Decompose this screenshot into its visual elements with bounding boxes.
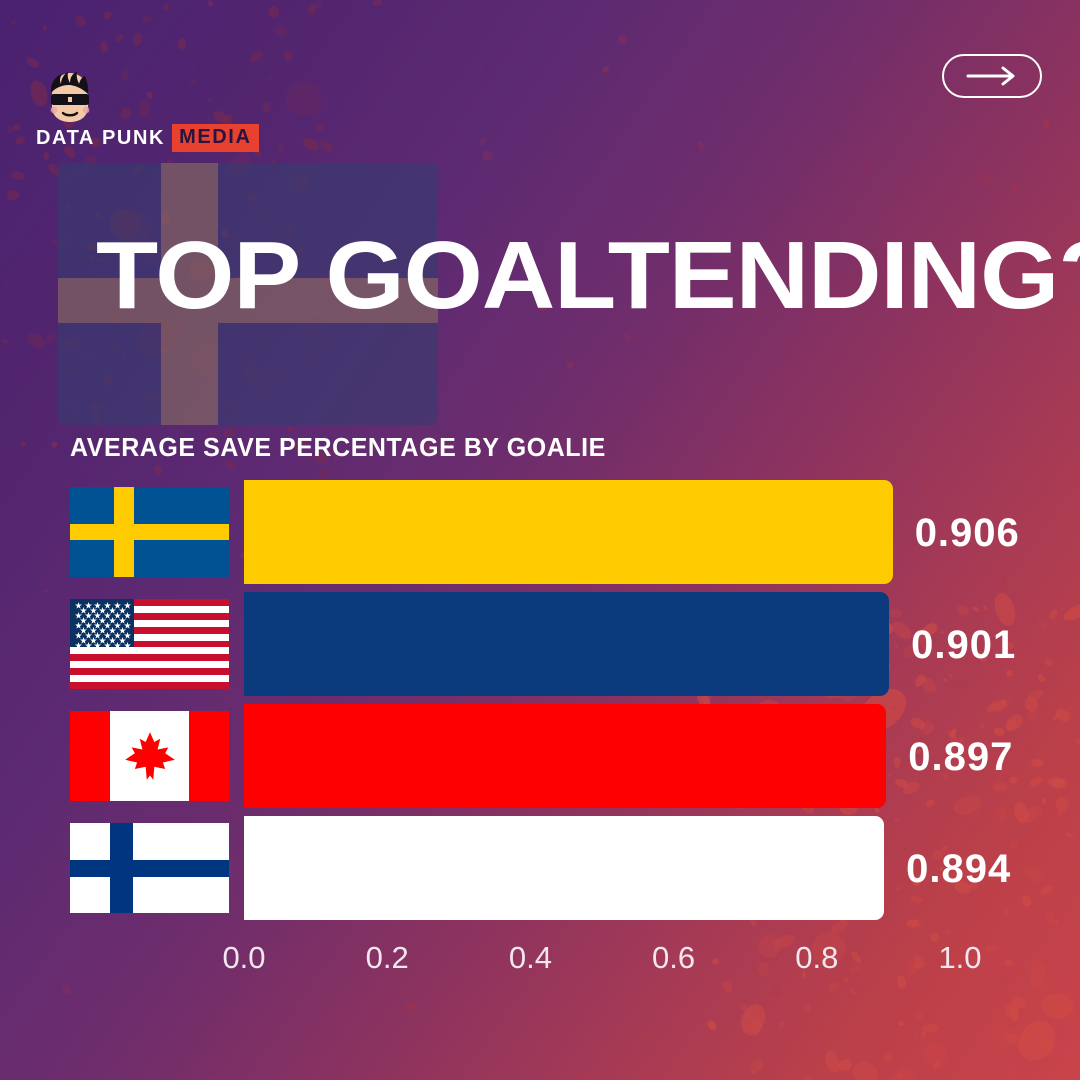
infographic-canvas: DATA PUNK MEDIA TOP GOALTENDING? AVERAGE… bbox=[0, 0, 1080, 1080]
bar-value-label: 0.894 bbox=[906, 847, 1011, 892]
bar-canada bbox=[244, 704, 886, 808]
bar-row: 0.897 bbox=[0, 704, 1080, 808]
brand-word-punk: PUNK bbox=[102, 127, 165, 150]
bar-value-label: 0.897 bbox=[908, 735, 1013, 780]
x-tick-label: 0.4 bbox=[509, 940, 552, 976]
finland-flag-icon bbox=[70, 823, 229, 913]
brand-word-data: DATA bbox=[36, 127, 95, 150]
arrow-right-icon bbox=[964, 66, 1020, 86]
bar-sweden bbox=[244, 480, 893, 584]
brand-logo: DATA PUNK MEDIA bbox=[36, 72, 286, 152]
page-title: TOP GOALTENDING? bbox=[96, 232, 1080, 320]
x-axis: 0.00.20.40.60.81.0 bbox=[0, 932, 1080, 992]
chart-subtitle: AVERAGE SAVE PERCENTAGE BY GOALIE bbox=[70, 432, 606, 463]
x-tick-label: 0.6 bbox=[652, 940, 695, 976]
punk-avatar-icon bbox=[42, 72, 98, 124]
bar-finland bbox=[244, 816, 884, 920]
bar-united-states bbox=[244, 592, 889, 696]
bar-value-label: 0.901 bbox=[911, 623, 1016, 668]
bar-value-label: 0.906 bbox=[915, 511, 1020, 556]
bar-row: 0.906 bbox=[0, 480, 1080, 584]
brand-wordmark: DATA PUNK MEDIA bbox=[36, 124, 259, 152]
sweden-flag-icon bbox=[70, 487, 229, 577]
x-tick-label: 1.0 bbox=[938, 940, 981, 976]
next-slide-button[interactable] bbox=[942, 54, 1042, 98]
bar-chart: 0.9060.9010.8970.894 bbox=[0, 480, 1080, 940]
brand-word-media: MEDIA bbox=[172, 124, 258, 152]
x-tick-label: 0.8 bbox=[795, 940, 838, 976]
bar-row: 0.901 bbox=[0, 592, 1080, 696]
x-tick-label: 0.0 bbox=[222, 940, 265, 976]
bar-row: 0.894 bbox=[0, 816, 1080, 920]
canada-flag-icon bbox=[70, 711, 229, 801]
usa-flag-icon bbox=[70, 599, 229, 689]
x-tick-label: 0.2 bbox=[366, 940, 409, 976]
